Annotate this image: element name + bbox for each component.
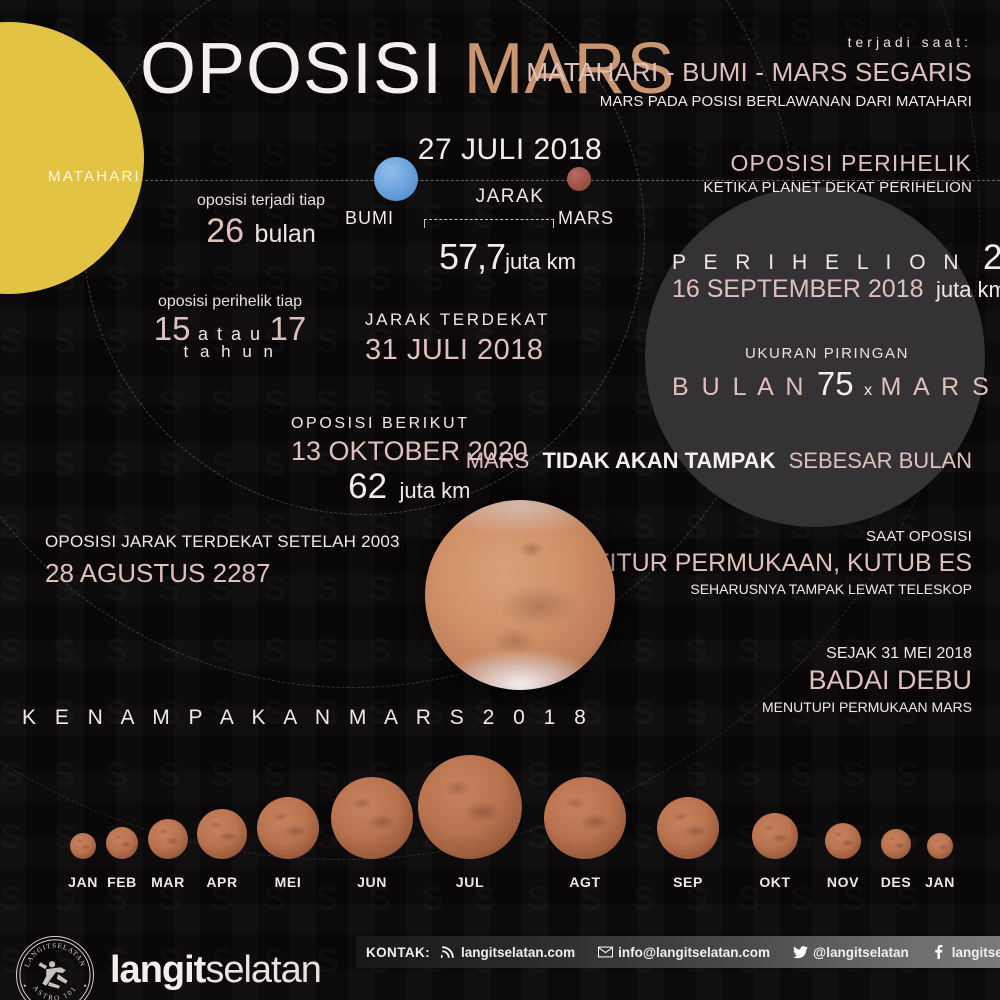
- mars-size-progression: [0, 755, 1000, 865]
- surface-features-line2: FITUR PERMUKAAN, KUTUB ES: [594, 549, 972, 578]
- disk-moon-label: B U L A N: [672, 373, 806, 401]
- next-opposition-distance-unit: juta km: [400, 478, 471, 503]
- contact-text: @langitselatan: [813, 945, 909, 960]
- month-label: SEP: [673, 874, 703, 890]
- contact-label: KONTAK:: [366, 945, 430, 960]
- month-label: MEI: [275, 874, 302, 890]
- next-opposition-distance: 62: [348, 467, 387, 506]
- disk-size-caption: UKURAN PIRINGAN: [672, 345, 982, 362]
- closest-after-2003-block: OPOSISI JARAK TERDEKAT SETELAH 2003 28 A…: [45, 532, 400, 589]
- month-labels-row: JANFEBMARAPRMEIJUNJULAGTSEPOKTNOVDESJAN: [0, 874, 1000, 894]
- title-part-oposisi: OPOSISI: [140, 29, 443, 109]
- month-label: APR: [206, 874, 237, 890]
- perihelic-interval-caption: oposisi perihelik tiap: [140, 293, 320, 311]
- disk-factor: 75: [817, 365, 854, 402]
- distance-measure-bar: [424, 219, 554, 228]
- month-label: MAR: [151, 874, 185, 890]
- distance-caption: JARAK: [420, 186, 600, 208]
- month-label: FEB: [107, 874, 137, 890]
- dust-storm-line2: BADAI DEBU: [762, 665, 972, 696]
- perihelic-interval-block: oposisi perihelik tiap 15 a t a u 17 t a…: [140, 293, 320, 362]
- mars-size-disc: [418, 755, 522, 859]
- earth-label: BUMI: [345, 208, 394, 229]
- month-label: JUL: [456, 874, 484, 890]
- month-label: AGT: [569, 874, 600, 890]
- dust-storm-line1: SEJAK 31 MEI 2018: [762, 645, 972, 663]
- month-label: OKT: [759, 874, 790, 890]
- opposition-interval-unit: bulan: [255, 220, 316, 248]
- mars-size-disc: [331, 777, 413, 859]
- twitter-icon: [792, 945, 808, 959]
- perihelion-distance-number: 207: [983, 238, 1000, 277]
- mars-size-disc: [148, 819, 188, 859]
- perihelic-interval-conjunction: a t a u: [198, 324, 262, 344]
- closest-approach-caption: JARAK TERDEKAT: [365, 310, 550, 330]
- month-label: NOV: [827, 874, 859, 890]
- perihelion-distance-unit: juta km: [936, 277, 1000, 302]
- rss-icon: [440, 945, 456, 959]
- alignment-caption: terjadi saat:: [526, 34, 972, 50]
- opposition-date: 27 JULI 2018: [400, 133, 620, 167]
- brand-wordmark: langitselatan: [110, 949, 321, 992]
- perihelic-subheading: KETIKA PLANET DEKAT PERIHELION: [703, 179, 972, 196]
- not-as-big-part3: SEBESAR BULAN: [789, 448, 972, 473]
- sun-label: MATAHARI: [48, 168, 141, 185]
- contact-item[interactable]: langitselatan: [931, 945, 1000, 960]
- mars-size-disc: [825, 823, 861, 859]
- perihelion-date: 16 SEPTEMBER 2018: [672, 275, 924, 303]
- contact-text: langitselatan: [952, 945, 1000, 960]
- distance-value-group: 57,7juta km: [400, 236, 615, 278]
- opposition-interval-block: oposisi terjadi tiap 26 bulan: [186, 192, 336, 251]
- contact-bar: KONTAK: langitselatan.cominfo@langitsela…: [356, 936, 1000, 968]
- appearance-heading: K E N A M P A K A N M A R S 2 0 1 8: [22, 706, 592, 730]
- not-as-big-statement: MARS TIDAK AKAN TAMPAK SEBESAR BULAN: [466, 448, 972, 474]
- surface-features-line3: SEHARUSNYA TAMPAK LEWAT TELESKOP: [594, 581, 972, 597]
- contact-item[interactable]: info@langitselatan.com: [597, 945, 770, 960]
- not-as-big-part2: TIDAK AKAN TAMPAK: [542, 448, 775, 473]
- facebook-icon: [931, 945, 947, 959]
- dust-storm-line3: MENUTUPI PERMUKAAN MARS: [762, 699, 972, 715]
- perihelic-heading: OPOSISI PERIHELIK: [703, 150, 972, 177]
- closest-approach-block: JARAK TERDEKAT 31 JULI 2018: [365, 310, 550, 367]
- surface-features-line1: SAAT OPOSISI: [594, 528, 972, 545]
- distance-value: 57,7: [439, 236, 505, 277]
- opposition-interval-value: 26: [206, 212, 244, 250]
- closest-approach-date: 31 JULI 2018: [365, 334, 550, 367]
- alignment-subline: MARS PADA POSISI BERLAWANAN DARI MATAHAR…: [526, 93, 972, 110]
- surface-features-block: SAAT OPOSISI FITUR PERMUKAAN, KUTUB ES S…: [594, 528, 972, 597]
- mars-size-disc: [257, 797, 319, 859]
- mars-label: MARS: [558, 208, 614, 229]
- langitselatan-seal-logo: LANGITSELATAN ASTRO 101: [16, 936, 94, 1000]
- perihelic-header: OPOSISI PERIHELIK KETIKA PLANET DEKAT PE…: [703, 150, 972, 196]
- earth-disc: [374, 157, 418, 201]
- mars-size-disc: [927, 833, 953, 859]
- alignment-line: MATAHARI - BUMI - MARS SEGARIS: [526, 57, 972, 88]
- disk-size-comparison: UKURAN PIRINGAN B U L A N 75 x M A R S: [672, 345, 982, 403]
- mars-size-disc: [657, 797, 719, 859]
- seal-svg: LANGITSELATAN ASTRO 101: [17, 937, 93, 1000]
- alignment-statement: terjadi saat: MATAHARI - BUMI - MARS SEG…: [526, 34, 972, 110]
- month-label: JUN: [357, 874, 387, 890]
- contact-text: info@langitselatan.com: [618, 945, 770, 960]
- dust-storm-block: SEJAK 31 MEI 2018 BADAI DEBU MENUTUPI PE…: [762, 645, 972, 715]
- next-opposition-block: OPOSISI BERIKUT 13 OKTOBER 2020 62 juta …: [291, 415, 528, 507]
- closest-after-2003-date: 28 AGUSTUS 2287: [45, 558, 400, 589]
- month-label: DES: [881, 874, 912, 890]
- mars-size-disc: [106, 827, 138, 859]
- mars-photo-globe: [425, 500, 615, 690]
- mars-size-disc: [544, 777, 626, 859]
- perihelion-label: P E R I H E L I O N: [672, 251, 965, 274]
- disk-mars-label: M A R S: [881, 373, 992, 401]
- disk-times-symbol: x: [864, 382, 872, 399]
- infographic-canvas: SSSSSSSSSSSSSSSSSSSSSSSSSSSSSSSSSSSSSSSS…: [0, 0, 1000, 1000]
- brand-light: selatan: [205, 949, 321, 991]
- contact-item[interactable]: langitselatan.com: [440, 945, 575, 960]
- mars-size-disc: [881, 829, 911, 859]
- opposition-interval-caption: oposisi terjadi tiap: [186, 192, 336, 210]
- mail-icon: [597, 945, 613, 959]
- next-opposition-caption: OPOSISI BERIKUT: [291, 415, 528, 433]
- mars-size-disc: [70, 833, 96, 859]
- perihelion-info: P E R I H E L I O N 207 16 SEPTEMBER 201…: [672, 238, 982, 304]
- closest-after-2003-caption: OPOSISI JARAK TERDEKAT SETELAH 2003: [45, 532, 400, 552]
- next-opposition-date: 13 OKTOBER 2020: [291, 436, 528, 467]
- mars-size-disc: [752, 813, 798, 859]
- month-label: JAN: [925, 874, 955, 890]
- month-label: JAN: [68, 874, 98, 890]
- contact-text: langitselatan.com: [461, 945, 575, 960]
- mars-size-disc: [197, 809, 247, 859]
- brand-bold: langit: [110, 949, 205, 991]
- distance-unit: juta km: [505, 249, 576, 274]
- contact-item[interactable]: @langitselatan: [792, 945, 909, 960]
